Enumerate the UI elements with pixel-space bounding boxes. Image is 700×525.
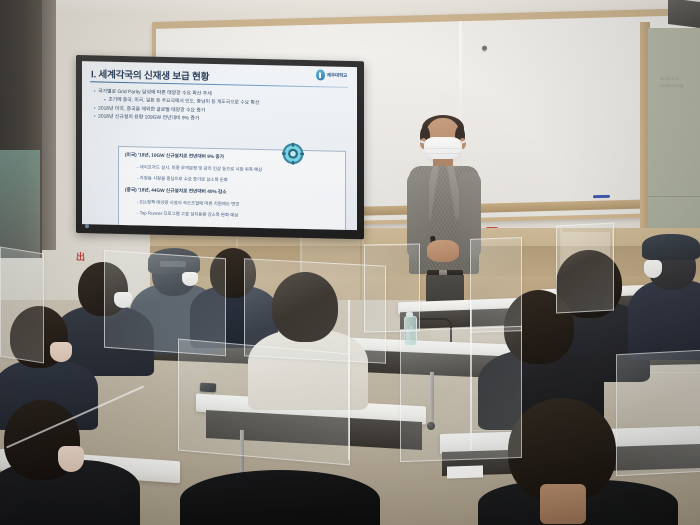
face-mask-icon: [644, 260, 662, 278]
acrylic-divider: [616, 350, 700, 477]
logo-mark-icon: [316, 69, 325, 80]
presenter-hands: [427, 240, 459, 262]
slide-bullets: 국가별로 Grid Parity 달성에 따른 태양광 수요 확산 추세 초기에…: [91, 89, 350, 125]
slide-box-cn-sub: - Top Runner 프로그램 고효 설치용량 감소폭 완화 예상: [137, 210, 238, 218]
acrylic-divider: [0, 247, 44, 364]
university-logo: 제주대학교: [316, 69, 347, 81]
student-body: [180, 470, 380, 525]
acrylic-edge: [348, 300, 350, 460]
slide-box-us-main: (미국) '18년, 10GW 신규설치로 전년대비 9% 증가: [125, 152, 224, 160]
left-glass-panel: [0, 150, 40, 260]
exit-mark: 出: [76, 253, 84, 262]
marker-blue-icon: [593, 195, 610, 198]
acrylic-divider: [178, 338, 350, 465]
panel-divider: [648, 196, 700, 197]
slide-detail-box: (미국) '18년, 10GW 신규설치로 전년대비 9% 증가 - 세이프가드…: [118, 146, 346, 230]
projection-screen: I. 세계각국의 신재생 보급 현황 제주대학교 국가별로 Grid Parit…: [76, 55, 364, 239]
slide-box-cn-sub: - 531정책 태양광 시설의 속도조절에 따른 지원제도 변경: [137, 199, 239, 207]
gear-emblem-icon: [282, 142, 304, 164]
mask-fold: [426, 153, 460, 154]
logo-label: 제주대학교: [327, 72, 347, 78]
mask-fold: [426, 148, 460, 149]
baseball-cap-icon: [642, 234, 700, 260]
projector-led-icon: [85, 224, 89, 228]
projected-slide: I. 세계각국의 신재생 보급 현황 제주대학교 국가별로 Grid Parit…: [82, 61, 357, 230]
student-8: [634, 232, 700, 352]
wall-sign: Business Networking: [660, 76, 700, 89]
acrylic-divider: [364, 244, 420, 333]
student-body: [628, 280, 700, 360]
student-foreground-shoulder: [180, 470, 380, 525]
slide-box-us-sub: - 가정용 시장을 중심으로 수요 증가로 상소폭 둔화: [137, 175, 228, 183]
acrylic-divider: [470, 237, 522, 333]
student-1-foreground: [0, 400, 130, 525]
acrylic-divider: [556, 222, 614, 313]
student-neck: [540, 484, 586, 524]
slide-content: I. 세계각국의 신재생 보급 현황 제주대학교 국가별로 Grid Parit…: [82, 61, 357, 230]
lecture-hall-photo: Business Networking 出 I. 세계각국의 신재생 보급 현황…: [0, 0, 700, 525]
slide-box-us-sub: - 세이프가드 실시, 미중 무역분쟁 및 금리 인상 등으로 시장 위축 예상: [137, 164, 262, 173]
left-column-edge: [42, 0, 56, 250]
face-mask-icon: [58, 446, 84, 472]
acrylic-divider: [400, 326, 522, 462]
slide-box-cn-main: (중국) '18년, 44GW 신규설치로 전년대비 40% 감소: [125, 187, 227, 195]
ceiling-device: [668, 0, 700, 28]
slide-footnote: * 고효율/고출력 수요 정책으로 태양광 모듈 시장 성장 지속: [122, 228, 228, 230]
handout-paper[interactable]: [447, 465, 483, 478]
acrylic-edge: [470, 300, 472, 450]
face-mask-icon: [50, 342, 72, 362]
